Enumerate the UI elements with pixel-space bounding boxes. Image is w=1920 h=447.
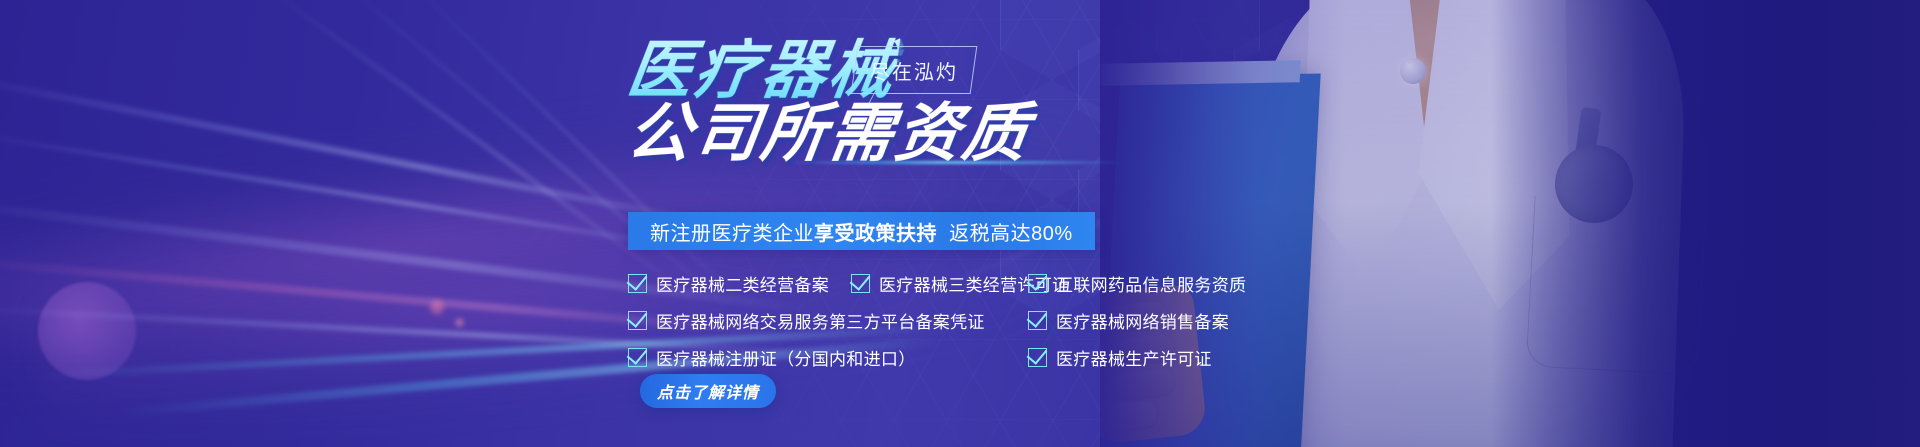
list-item-label: 医疗器械注册证（分国内和进口） [656,345,916,370]
check-square-icon [1028,274,1047,293]
qualification-checklist: 医疗器械二类经营备案 医疗器械三类经营许可证 互联网药品信息服务资质 [628,268,1268,379]
list-item[interactable]: 互联网药品信息服务资质 [1028,271,1246,296]
check-square-icon [1028,311,1047,330]
cta-button[interactable]: 点击了解详情 [640,374,776,408]
check-square-icon [851,274,870,293]
list-item[interactable]: 医疗器械生产许可证 [1028,345,1212,370]
policy-ribbon-text: 新注册医疗类企业享受政策扶持 返税高达80% [650,217,1073,246]
list-item[interactable]: 医疗器械网络交易服务第三方平台备案凭证 [628,308,985,333]
checklist-col-left: 医疗器械注册证（分国内和进口） [628,345,1028,370]
checklist-col-left: 医疗器械二类经营备案 医疗器械三类经营许可证 [628,271,1028,296]
list-item[interactable]: 医疗器械注册证（分国内和进口） [628,345,916,370]
banner-content: 医疗器械 尽在泓灼 公司所需资质 新注册医疗类企业享受政策扶持 返税高达80% … [0,0,1920,447]
checklist-row: 医疗器械网络交易服务第三方平台备案凭证 医疗器械网络销售备案 [628,305,1268,335]
check-square-icon [628,311,647,330]
headline-line-2: 公司所需资质 [624,101,1035,165]
ribbon-prefix: 新注册医疗类企业 [650,223,814,245]
checklist-col-left: 医疗器械网络交易服务第三方平台备案凭证 [628,308,1028,333]
medical-device-promo-banner: 医疗器械 尽在泓灼 公司所需资质 新注册医疗类企业享受政策扶持 返税高达80% … [0,0,1920,447]
list-item-label: 医疗器械生产许可证 [1056,345,1212,370]
check-square-icon [1028,348,1047,367]
checklist-col-right: 互联网药品信息服务资质 [1028,271,1246,296]
checklist-row: 医疗器械二类经营备案 医疗器械三类经营许可证 互联网药品信息服务资质 [628,268,1268,298]
checklist-col-right: 医疗器械网络销售备案 [1028,308,1229,333]
speech-bubble-icon: 尽在泓灼 [851,46,978,94]
policy-ribbon: 新注册医疗类企业享受政策扶持 返税高达80% [628,212,1095,250]
checklist-row: 医疗器械注册证（分国内和进口） 医疗器械生产许可证 [628,342,1268,372]
speech-bubble-text: 尽在泓灼 [870,56,958,85]
check-square-icon [628,348,647,367]
ribbon-suffix: 返税高达80% [949,223,1073,245]
list-item-label: 医疗器械二类经营备案 [656,271,829,296]
list-item[interactable]: 医疗器械二类经营备案 [628,271,829,296]
list-item-label: 医疗器械网络销售备案 [1056,308,1229,333]
list-item-label: 医疗器械网络交易服务第三方平台备案凭证 [656,308,985,333]
list-item-label: 互联网药品信息服务资质 [1056,271,1246,296]
cta-button-label: 点击了解详情 [657,379,759,403]
check-square-icon [628,274,647,293]
speech-bubble-tail-mask [871,90,897,93]
checklist-col-right: 医疗器械生产许可证 [1028,345,1212,370]
list-item[interactable]: 医疗器械网络销售备案 [1028,308,1229,333]
ribbon-strong: 享受政策扶持 [814,223,937,245]
glow-accent-line [790,160,1120,165]
